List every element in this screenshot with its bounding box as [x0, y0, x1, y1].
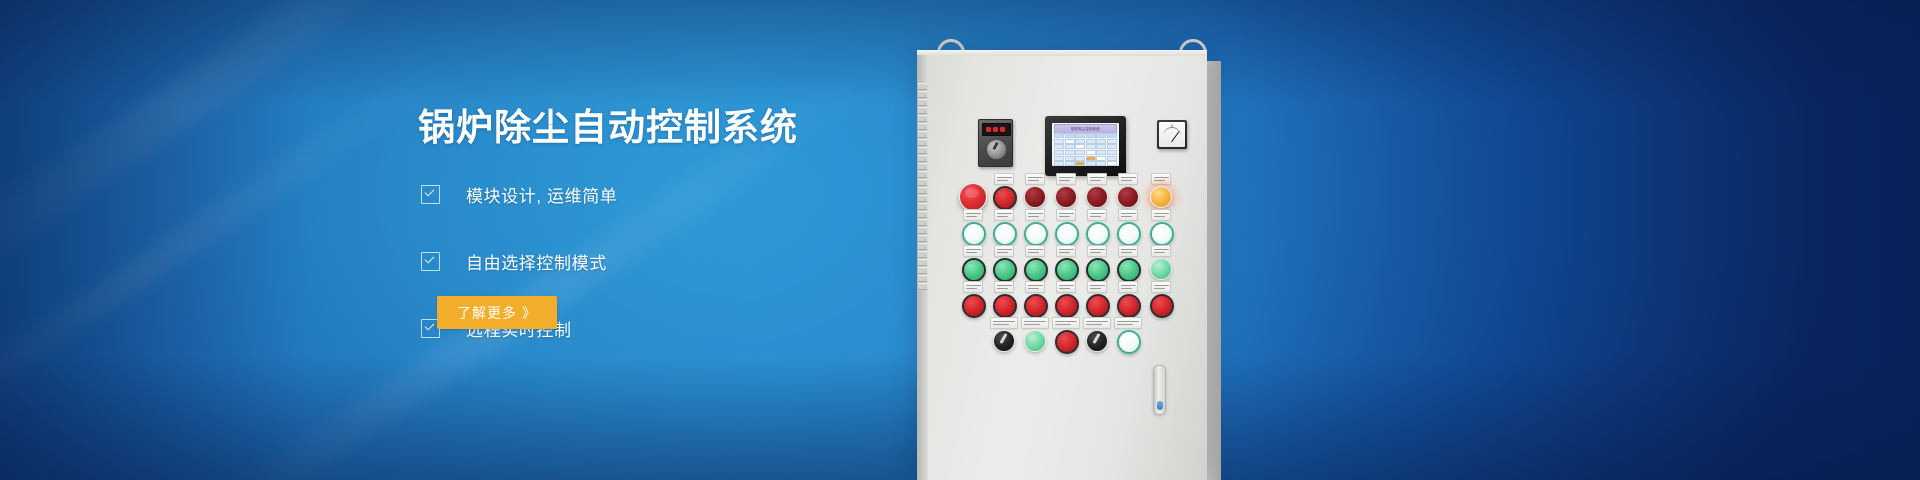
indicator-button-grid	[961, 183, 1176, 363]
hmi-table-cell	[1096, 133, 1106, 138]
hmi-table-cell	[1054, 161, 1064, 166]
lamp-face[interactable]	[1117, 330, 1141, 354]
cabinet-hinge	[918, 179, 927, 186]
hmi-table-cell	[1107, 156, 1117, 161]
list-item-label: 自由选择控制模式	[466, 249, 607, 274]
button-legend-plate	[1025, 209, 1045, 221]
hmi-table-cell	[1075, 150, 1085, 155]
cabinet-hinge	[918, 235, 927, 242]
lamp-face[interactable]	[993, 222, 1017, 246]
cabinet-hinge	[918, 275, 927, 282]
cabinet-hinge	[918, 91, 927, 98]
learn-more-button[interactable]: 了解更多 》	[437, 296, 557, 329]
lamp-face[interactable]	[993, 186, 1017, 210]
lamp-face[interactable]	[1055, 330, 1079, 354]
lamp-face[interactable]	[1117, 186, 1139, 208]
cabinet-hinge	[918, 123, 927, 130]
cabinet-hinge	[918, 171, 927, 178]
cta-text: 了解更多	[457, 303, 517, 323]
lamp-face[interactable]	[962, 258, 986, 282]
list-spacer	[421, 212, 617, 245]
check-box-icon	[421, 252, 440, 271]
lamp-face[interactable]	[962, 294, 986, 318]
hmi-table-cell	[1107, 139, 1117, 144]
hmi-table-cell	[1086, 150, 1096, 155]
hmi-table-cell	[1075, 139, 1085, 144]
learn-more-button-label: 了解更多 》	[457, 303, 537, 323]
vfd-dial-knob[interactable]	[986, 139, 1007, 160]
hmi-table-cell	[1107, 144, 1117, 149]
button-legend-plate	[1087, 173, 1107, 185]
button-legend-plate	[1025, 245, 1045, 257]
button-legend-plate	[994, 245, 1014, 257]
hmi-table-cell	[1086, 133, 1096, 138]
cabinet-hinge	[918, 267, 927, 274]
analog-panel-meter: V	[1157, 120, 1187, 149]
lamp-face[interactable]	[1024, 294, 1048, 318]
button-legend-plate	[1118, 281, 1138, 293]
lamp-face[interactable]	[993, 294, 1017, 318]
lamp-face[interactable]	[1150, 186, 1172, 208]
hmi-table-cell	[1107, 161, 1117, 166]
lamp-face[interactable]	[1055, 222, 1079, 246]
hmi-table-cell	[1065, 156, 1075, 161]
cabinet-hinge	[918, 155, 927, 162]
list-item: 模块设计, 运维简单	[421, 178, 617, 211]
button-legend-plate	[1056, 281, 1076, 293]
button-legend-plate	[963, 209, 983, 221]
button-legend-plate	[1056, 173, 1076, 185]
lamp-face[interactable]	[1086, 294, 1110, 318]
lamp-face[interactable]	[1055, 294, 1079, 318]
lamp-face[interactable]	[1055, 258, 1079, 282]
hmi-table-cell	[1086, 144, 1096, 149]
lamp-face[interactable]	[1024, 186, 1046, 208]
banner-copy: 锅炉除尘自动控制系统 模块设计, 运维简单 自由选择控制模式 远程实时控制 了解…	[418, 0, 978, 480]
lamp-face[interactable]	[1024, 258, 1048, 282]
hmi-table-cell	[1096, 156, 1106, 161]
cabinet-hinge	[918, 83, 927, 90]
hmi-table-cell	[1075, 161, 1085, 166]
list-item-label: 模块设计, 运维简单	[466, 182, 617, 207]
lamp-face[interactable]	[1086, 222, 1110, 246]
cabinet-hinge	[918, 259, 927, 266]
button-legend-plate	[1118, 173, 1138, 185]
hmi-table-cell	[1086, 161, 1096, 166]
hmi-screen-content: 锅炉除尘控制系统	[1052, 123, 1119, 166]
hmi-table-cell	[1096, 139, 1106, 144]
cabinet-hinge	[918, 163, 927, 170]
lamp-face[interactable]	[1055, 186, 1077, 208]
cabinet-hinge	[918, 203, 927, 210]
hmi-table-cell	[1096, 144, 1106, 149]
cabinet-hinge	[918, 243, 927, 250]
button-legend-plate	[1087, 281, 1107, 293]
button-legend-plate	[1118, 209, 1138, 221]
lamp-face[interactable]	[1117, 258, 1141, 282]
button-legend-plate	[1025, 173, 1045, 185]
cabinet-front-door: 锅炉除尘控制系统 V	[917, 55, 1207, 480]
button-legend-plate	[994, 173, 1014, 185]
cabinet-hinge	[918, 195, 927, 202]
button-legend-plate	[1083, 317, 1111, 329]
hmi-table-cell	[1107, 150, 1117, 155]
control-cabinet: 锅炉除尘控制系统 V	[917, 55, 1207, 480]
door-handle[interactable]	[1153, 365, 1166, 415]
lamp-face[interactable]	[1086, 258, 1110, 282]
hmi-table-cell	[1096, 161, 1106, 166]
hmi-table-cell	[1054, 139, 1064, 144]
button-legend-plate	[1021, 317, 1049, 329]
cabinet-hinge	[918, 283, 927, 290]
cabinet-hinge	[918, 251, 927, 258]
lamp-face[interactable]	[1024, 222, 1048, 246]
lamp-face[interactable]	[1086, 186, 1108, 208]
cabinet-hinge	[918, 107, 927, 114]
emergency-stop-icon[interactable]	[959, 183, 987, 211]
double-chevron-right-icon: 》	[522, 306, 537, 320]
hmi-table-cell	[1065, 133, 1075, 138]
button-legend-plate	[1114, 317, 1142, 329]
page-title: 锅炉除尘自动控制系统	[418, 105, 798, 151]
cabinet-hinge	[918, 187, 927, 194]
button-legend-plate	[963, 245, 983, 257]
button-legend-plate	[963, 281, 983, 293]
button-legend-plate	[1087, 245, 1107, 257]
button-legend-plate	[1056, 245, 1076, 257]
hmi-table-cell	[1065, 144, 1075, 149]
hmi-table-cell	[1065, 139, 1075, 144]
button-legend-plate	[1151, 245, 1171, 257]
cabinet-hinge-strip	[918, 83, 927, 293]
button-legend-plate	[994, 209, 1014, 221]
button-legend-plate	[1087, 209, 1107, 221]
button-legend-plate	[990, 317, 1018, 329]
button-legend-plate	[1151, 173, 1171, 185]
hmi-table-cell	[1054, 150, 1064, 155]
button-legend-plate	[1025, 281, 1045, 293]
button-legend-plate	[994, 281, 1014, 293]
check-box-icon	[421, 185, 440, 204]
vfd-display	[982, 123, 1011, 136]
cabinet-hinge	[918, 147, 927, 154]
lamp-face[interactable]	[1150, 258, 1172, 280]
lamp-face[interactable]	[993, 330, 1015, 352]
indicator-button-row	[961, 327, 1176, 363]
hmi-table-cell	[1107, 133, 1117, 138]
banner-stage: 锅炉除尘自动控制系统 模块设计, 运维简单 自由选择控制模式 远程实时控制 了解…	[0, 0, 1920, 480]
lamp-face[interactable]	[1150, 294, 1174, 318]
lamp-face[interactable]	[1117, 294, 1141, 318]
vfd-keypad[interactable]	[978, 119, 1013, 167]
button-legend-plate	[1056, 209, 1076, 221]
hmi-table-cell	[1075, 156, 1085, 161]
button-legend-plate	[1151, 209, 1171, 221]
cabinet-hinge	[918, 115, 927, 122]
cabinet-hinge	[918, 211, 927, 218]
hmi-table-cell	[1065, 161, 1075, 166]
button-legend-plate	[1151, 281, 1171, 293]
cabinet-hinge	[918, 99, 927, 106]
hmi-table-cell	[1086, 156, 1096, 161]
cabinet-hinge	[918, 219, 927, 226]
button-legend-plate	[1052, 317, 1080, 329]
hmi-touch-screen[interactable]: 锅炉除尘控制系统	[1045, 116, 1126, 176]
lamp-face[interactable]	[1117, 222, 1141, 246]
lamp-face[interactable]	[1150, 222, 1174, 246]
lamp-face[interactable]	[993, 258, 1017, 282]
hmi-data-table	[1054, 133, 1117, 164]
cabinet-top-edge	[917, 50, 1207, 56]
list-item: 自由选择控制模式	[421, 245, 617, 278]
hmi-table-cell	[1054, 133, 1064, 138]
hmi-table-cell	[1075, 144, 1085, 149]
cabinet-hinge	[918, 227, 927, 234]
lamp-face[interactable]	[1086, 330, 1108, 352]
hmi-table-cell	[1054, 144, 1064, 149]
hmi-table-cell	[1086, 139, 1096, 144]
lamp-face[interactable]	[962, 222, 986, 246]
cabinet-hinge	[918, 139, 927, 146]
lamp-face[interactable]	[1024, 330, 1046, 352]
meter-face: V	[1159, 122, 1185, 147]
hmi-table-cell	[1096, 150, 1106, 155]
button-legend-plate	[1118, 245, 1138, 257]
cabinet-side-panel	[1207, 61, 1221, 480]
hmi-table-cell	[1065, 150, 1075, 155]
hmi-table-cell	[1054, 156, 1064, 161]
hmi-table-cell	[1075, 133, 1085, 138]
cabinet-hinge	[918, 131, 927, 138]
